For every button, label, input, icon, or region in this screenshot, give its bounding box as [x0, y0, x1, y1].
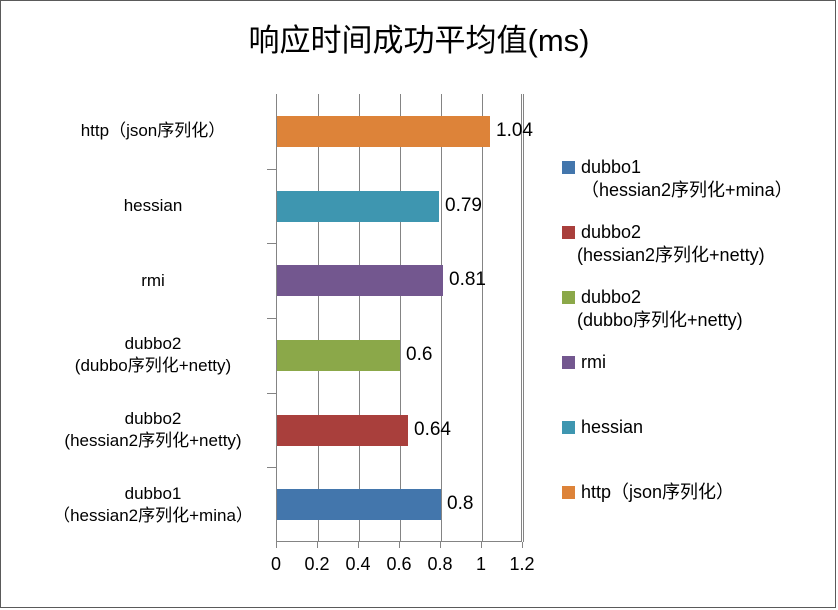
category-label-line: dubbo2	[38, 408, 268, 430]
bar-series: 1.040.790.810.60.640.8	[277, 94, 523, 542]
bar-row: 0.79	[277, 169, 523, 244]
x-axis-tick	[276, 542, 277, 548]
legend-item[interactable]: dubbo2(hessian2序列化+netty)	[557, 221, 835, 286]
bar-row: 0.8	[277, 467, 523, 542]
legend-label-line2: (dubbo序列化+netty)	[577, 309, 743, 332]
x-axis-tick-label: 0.6	[379, 554, 419, 575]
legend-item[interactable]: hessian	[557, 416, 835, 481]
gridline	[523, 94, 524, 542]
legend-label-line2: (hessian2序列化+netty)	[577, 244, 765, 267]
legend-color-swatch	[562, 486, 575, 499]
legend-label: dubbo1	[581, 156, 641, 179]
x-axis-tick	[399, 542, 400, 548]
legend-color-swatch	[562, 291, 575, 304]
bar	[277, 340, 400, 371]
y-axis-tick	[267, 467, 276, 468]
y-axis-category-label: rmi	[38, 270, 268, 292]
category-label-line: http（json序列化）	[38, 120, 268, 142]
y-axis-category-label: dubbo2(dubbo序列化+netty)	[38, 333, 268, 377]
x-axis-tick-label: 0.8	[420, 554, 460, 575]
bar	[277, 415, 408, 446]
legend-label: rmi	[581, 351, 606, 374]
y-axis-tick	[267, 393, 276, 394]
y-axis-category-label: dubbo1（hessian2序列化+mina）	[38, 483, 268, 527]
bar	[277, 191, 439, 222]
plot-area: 1.040.790.810.60.640.8	[276, 94, 522, 542]
legend-label: dubbo2	[581, 221, 641, 244]
x-axis-tick-label: 1.2	[502, 554, 542, 575]
bar-value-label: 0.79	[445, 195, 482, 217]
bar-value-label: 0.64	[414, 419, 451, 441]
category-label-line: hessian	[38, 195, 268, 217]
bar-row: 0.6	[277, 318, 523, 393]
category-label-line: rmi	[38, 270, 268, 292]
y-axis-tick	[267, 318, 276, 319]
y-axis-category-label: http（json序列化）	[38, 120, 268, 142]
category-label-line: (dubbo序列化+netty)	[38, 355, 268, 377]
legend-color-swatch	[562, 421, 575, 434]
legend-label: http（json序列化）	[581, 481, 734, 504]
y-axis-category-label: dubbo2(hessian2序列化+netty)	[38, 408, 268, 452]
legend-color-swatch	[562, 226, 575, 239]
legend-color-swatch	[562, 356, 575, 369]
chart-title: 响应时间成功平均值(ms)	[1, 15, 837, 60]
x-axis-tick-label: 0.4	[338, 554, 378, 575]
x-axis-tick-label: 1	[461, 554, 501, 575]
x-axis-tick	[522, 542, 523, 548]
legend-item[interactable]: dubbo1（hessian2序列化+mina）	[557, 156, 835, 221]
y-axis-tick	[267, 243, 276, 244]
bar	[277, 265, 443, 296]
bar-row: 1.04	[277, 94, 523, 169]
legend-label: hessian	[581, 416, 643, 439]
bar-row: 0.64	[277, 393, 523, 468]
legend-item[interactable]: rmi	[557, 351, 835, 416]
category-label-line: dubbo1	[38, 483, 268, 505]
bar	[277, 116, 490, 147]
y-axis-tick	[267, 169, 276, 170]
bar-value-label: 0.81	[449, 269, 486, 291]
bar-value-label: 0.6	[406, 344, 432, 366]
legend-color-swatch	[562, 161, 575, 174]
category-label-line: dubbo2	[38, 333, 268, 355]
bar	[277, 489, 441, 520]
legend-item[interactable]: http（json序列化）	[557, 481, 835, 546]
x-axis-tick-label: 0.2	[297, 554, 337, 575]
x-axis-tick	[481, 542, 482, 548]
legend-label-line2: （hessian2序列化+mina）	[581, 179, 793, 202]
category-label-line: (hessian2序列化+netty)	[38, 430, 268, 452]
legend-label: dubbo2	[581, 286, 641, 309]
bar-value-label: 0.8	[447, 493, 473, 515]
x-axis-tick-label: 0	[256, 554, 296, 575]
chart-frame: 响应时间成功平均值(ms) http（json序列化）hessianrmidub…	[0, 0, 836, 608]
bar-value-label: 1.04	[496, 120, 533, 142]
x-axis-tick	[317, 542, 318, 548]
y-axis-category-label: hessian	[38, 195, 268, 217]
category-label-line: （hessian2序列化+mina）	[38, 505, 268, 527]
x-axis-tick	[440, 542, 441, 548]
legend-item[interactable]: dubbo2(dubbo序列化+netty)	[557, 286, 835, 351]
bar-row: 0.81	[277, 243, 523, 318]
x-axis-tick	[358, 542, 359, 548]
